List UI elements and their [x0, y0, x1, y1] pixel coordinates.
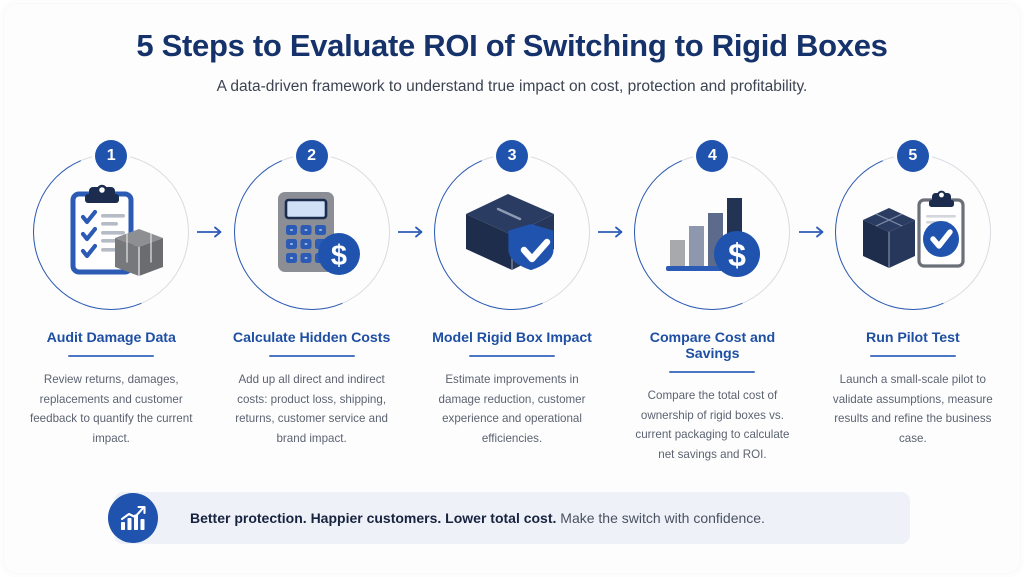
svg-text:$: $: [729, 237, 747, 273]
arrow-right-icon-3: [595, 154, 629, 310]
bar-chart-dollar-icon: $: [658, 184, 766, 280]
step-1-circle: 1: [33, 154, 189, 310]
step-2-circle: 2: [234, 154, 390, 310]
steps-row: 1: [28, 140, 996, 465]
banner-rest-text: Make the switch with confidence.: [556, 510, 765, 526]
box-clipboard-check-icon: [859, 184, 967, 280]
step-4-body: Compare the total cost of ownership of r…: [629, 386, 795, 466]
banner-bold-text: Better protection. Happier customers. Lo…: [190, 510, 556, 526]
box-shield-check-icon: [458, 184, 566, 280]
svg-text:$: $: [331, 240, 347, 272]
header: 5 Steps to Evaluate ROI of Switching to …: [0, 0, 1024, 96]
step-1: 1: [28, 140, 194, 449]
step-4-number-badge: 4: [696, 140, 728, 172]
page-subtitle: A data-driven framework to understand tr…: [0, 78, 1024, 96]
step-2: 2: [228, 140, 394, 449]
step-3-circle: 3: [434, 154, 590, 310]
step-4-divider: [669, 371, 755, 373]
step-3-number-badge: 3: [496, 140, 528, 172]
step-3-heading: Model Rigid Box Impact: [429, 330, 595, 346]
clipboard-checklist-box-icon: [57, 184, 165, 280]
step-1-divider: [68, 355, 154, 357]
step-2-divider: [269, 355, 355, 357]
step-2-number-badge: 2: [296, 140, 328, 172]
step-5: 5: [830, 140, 996, 449]
step-1-number-badge: 1: [95, 140, 127, 172]
step-3: 3 Model Rigid Box Impact Estimate improv…: [429, 140, 595, 449]
step-2-body: Add up all direct and indirect costs: pr…: [228, 370, 394, 450]
step-3-divider: [469, 355, 555, 357]
step-2-heading: Calculate Hidden Costs: [228, 330, 394, 346]
summary-banner: Better protection. Happier customers. Lo…: [114, 492, 910, 544]
step-5-number-badge: 5: [897, 140, 929, 172]
step-3-body: Estimate improvements in damage reductio…: [429, 370, 595, 450]
growth-chart-icon: [108, 493, 158, 543]
step-4: 4 $ Compare Cost and Savings Compare the…: [629, 140, 795, 465]
step-4-circle: 4 $: [634, 154, 790, 310]
arrow-right-icon-2: [395, 154, 429, 310]
step-5-circle: 5: [835, 154, 991, 310]
gray-box-shape: [115, 229, 163, 276]
step-5-body: Launch a small-scale pilot to validate a…: [830, 370, 996, 450]
arrow-right-icon-1: [194, 154, 228, 310]
calculator-dollar-icon: $: [258, 184, 366, 280]
step-5-divider: [870, 355, 956, 357]
step-1-body: Review returns, damages, replacements an…: [28, 370, 194, 450]
step-1-heading: Audit Damage Data: [28, 330, 194, 346]
step-4-heading: Compare Cost and Savings: [629, 330, 795, 362]
banner-text: Better protection. Happier customers. Lo…: [190, 510, 765, 526]
step-5-heading: Run Pilot Test: [830, 330, 996, 346]
page-title: 5 Steps to Evaluate ROI of Switching to …: [0, 28, 1024, 64]
infographic-page: 5 Steps to Evaluate ROI of Switching to …: [0, 0, 1024, 577]
arrow-right-icon-4: [796, 154, 830, 310]
